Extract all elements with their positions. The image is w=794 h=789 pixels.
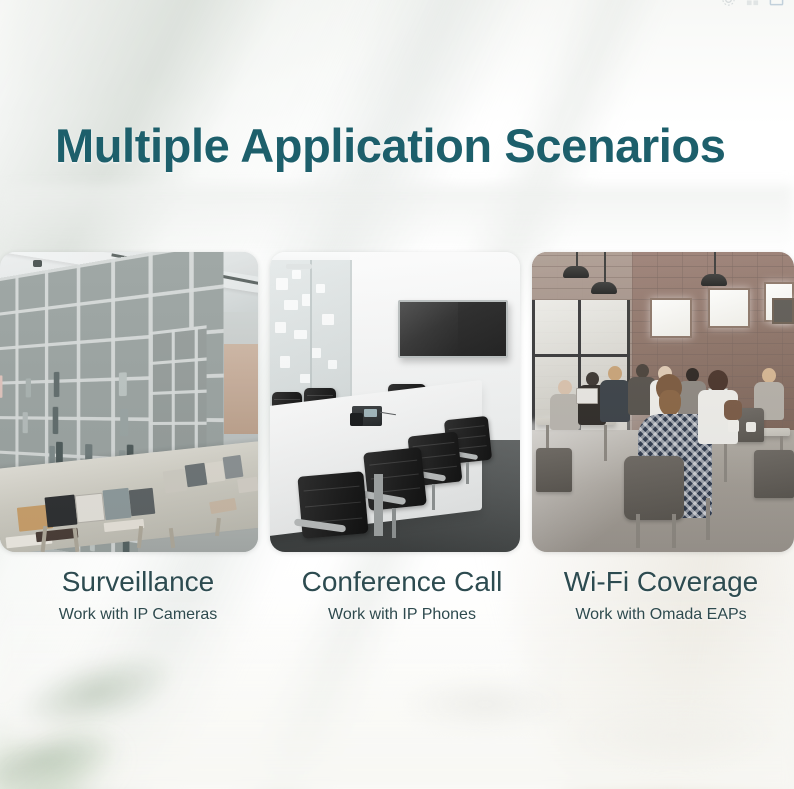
cup xyxy=(728,420,739,432)
slide-content: Multiple Application Scenarios xyxy=(0,0,794,789)
scenario-card-conference-call[interactable] xyxy=(270,252,520,552)
framed-art xyxy=(772,298,794,324)
caption-title: Wi-Fi Coverage xyxy=(528,565,794,599)
laptop xyxy=(576,388,598,404)
pendant-lamp xyxy=(591,282,617,294)
chair-leg xyxy=(706,498,710,540)
caption-surveillance: Surveillance Work with IP Cameras xyxy=(0,565,276,624)
table-leg xyxy=(374,474,383,536)
tv-screen-reflection xyxy=(400,302,458,356)
caption-title: Conference Call xyxy=(276,565,528,599)
window xyxy=(650,298,692,338)
ceiling-pendant-light xyxy=(286,264,312,269)
caption-wifi-coverage: Wi-Fi Coverage Work with Omada EAPs xyxy=(528,565,794,624)
displayed-book xyxy=(163,469,188,494)
pendant-lamp xyxy=(701,274,727,286)
caption-subtitle: Work with IP Cameras xyxy=(0,606,276,624)
conference-room-photo xyxy=(270,252,520,552)
chair-leg xyxy=(636,514,640,548)
track-lamp xyxy=(33,260,42,267)
phone-screen xyxy=(364,409,377,417)
grid-icon[interactable] xyxy=(745,0,760,7)
scenario-card-surveillance[interactable] xyxy=(0,252,258,552)
window xyxy=(708,288,750,328)
displayed-book xyxy=(205,461,226,483)
scenario-card-wifi-coverage[interactable] xyxy=(532,252,794,552)
cafe-chair xyxy=(536,448,572,492)
page-title: Multiple Application Scenarios xyxy=(55,120,725,173)
scenario-card-row xyxy=(0,252,794,552)
cafe-chair-foreground xyxy=(624,456,684,520)
chair xyxy=(300,474,366,552)
caption-subtitle: Work with IP Phones xyxy=(276,606,528,624)
pendant-lamp xyxy=(563,266,589,278)
window-icon[interactable] xyxy=(769,0,784,7)
cafe-chair xyxy=(754,450,794,498)
library-photo xyxy=(0,252,258,552)
window-chrome-icons xyxy=(721,0,784,7)
table-legs xyxy=(30,518,258,552)
caption-title: Surveillance xyxy=(0,565,276,599)
caption-subtitle: Work with Omada EAPs xyxy=(528,606,794,624)
cup xyxy=(746,422,756,432)
pendant-cord xyxy=(604,252,606,284)
wall-mounted-tv xyxy=(398,300,508,358)
ip-conference-phone xyxy=(350,402,384,428)
displayed-book xyxy=(185,463,208,488)
table-leg xyxy=(604,425,607,461)
phone-handset xyxy=(350,413,363,426)
cafe-photo xyxy=(532,252,794,552)
wood-panel xyxy=(224,344,258,434)
pendant-cord xyxy=(714,252,716,276)
displayed-book xyxy=(223,455,244,479)
gear-icon[interactable] xyxy=(721,0,736,7)
chair-leg xyxy=(672,514,676,548)
caption-conference-call: Conference Call Work with IP Phones xyxy=(276,565,528,624)
displayed-book xyxy=(103,488,132,521)
displayed-book xyxy=(129,488,156,516)
caption-row: Surveillance Work with IP Cameras Confer… xyxy=(0,565,794,624)
displayed-book xyxy=(237,477,258,494)
